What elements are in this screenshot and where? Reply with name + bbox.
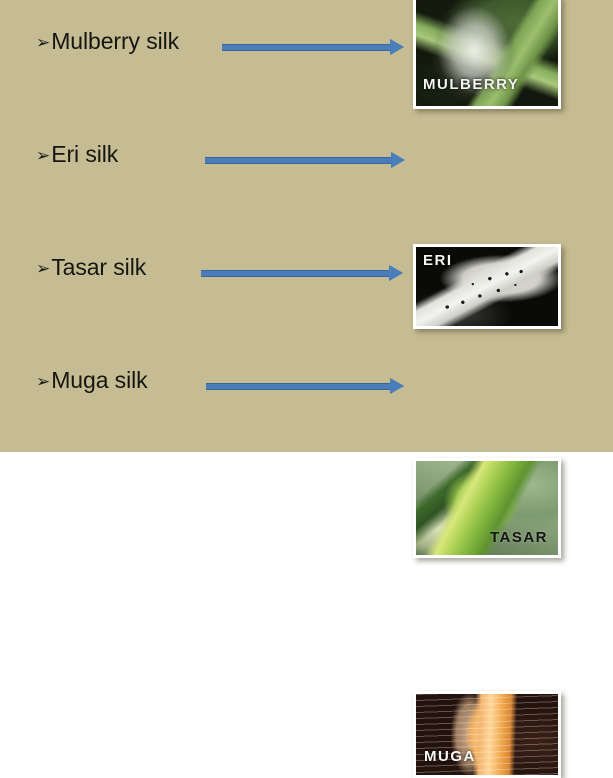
arrow-bullet-icon: ➢ (36, 261, 50, 278)
slide-canvas: ➢ Mulberry silk MULBERRY ➢ Eri silk ERI (0, 0, 613, 452)
photo-caption: MUGA (424, 748, 476, 765)
photo-frame-mulberry: MULBERRY (413, 0, 561, 109)
photo-caption: TASAR (490, 529, 548, 546)
arrow-bullet-icon: ➢ (36, 148, 50, 165)
bullet-item-eri: ➢ Eri silk (36, 141, 118, 168)
arrow-shaft (206, 383, 390, 390)
arrow-shaft (222, 44, 390, 51)
silk-type-label: Muga silk (51, 367, 147, 394)
photo-tasar: TASAR (416, 461, 558, 555)
photo-caption: MULBERRY (423, 76, 519, 93)
silk-type-row: ➢ Mulberry silk MULBERRY (0, 0, 613, 113)
silk-type-label: Tasar silk (51, 254, 146, 281)
arrow-head (391, 152, 405, 168)
arrow-mulberry (222, 38, 404, 56)
arrow-head (390, 378, 404, 394)
arrow-eri (205, 151, 405, 169)
bullet-item-tasar: ➢ Tasar silk (36, 254, 146, 281)
arrow-head (389, 265, 403, 281)
arrow-muga (206, 377, 404, 395)
photo-muga: MUGA (416, 694, 558, 775)
silk-type-row: ➢ Muga silk MUGA (0, 339, 613, 452)
arrow-head (390, 39, 404, 55)
arrow-shaft (201, 270, 389, 277)
arrow-bullet-icon: ➢ (36, 374, 50, 391)
arrow-tasar (201, 264, 403, 282)
silk-type-row: ➢ Tasar silk TASAR (0, 226, 613, 339)
bullet-item-muga: ➢ Muga silk (36, 367, 148, 394)
silk-type-row: ➢ Eri silk ERI (0, 113, 613, 226)
silk-type-label: Eri silk (51, 141, 118, 168)
photo-frame-muga: MUGA (413, 691, 561, 778)
arrow-shaft (205, 157, 391, 164)
photo-mulberry: MULBERRY (416, 0, 558, 106)
photo-frame-tasar: TASAR (413, 458, 561, 558)
bullet-item-mulberry: ➢ Mulberry silk (36, 28, 179, 55)
arrow-bullet-icon: ➢ (36, 35, 50, 52)
silk-type-label: Mulberry silk (51, 28, 179, 55)
